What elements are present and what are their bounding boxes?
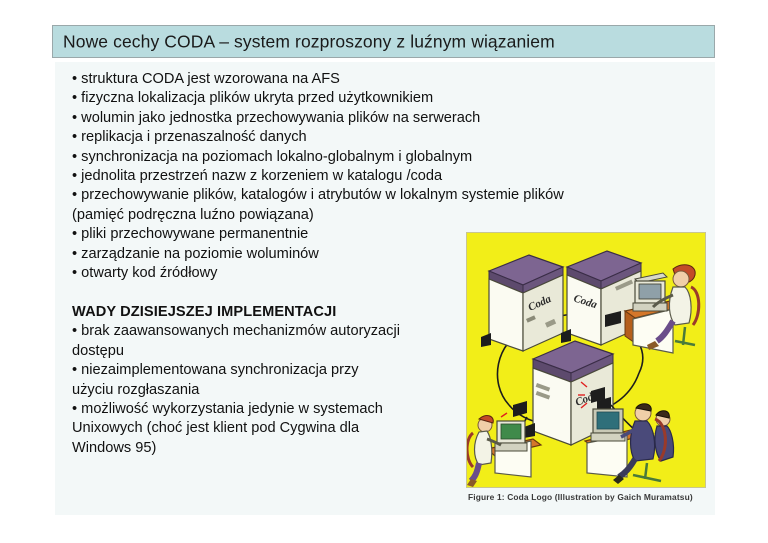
list-item: • synchronizacja na poziomach lokalno-gl…: [72, 148, 672, 167]
list-item: • struktura CODA jest wzorowana na AFS: [72, 70, 672, 89]
slide: Nowe cechy CODA – system rozproszony z l…: [0, 0, 768, 543]
list-item: • fizyczna lokalizacja plików ukryta prz…: [72, 89, 672, 108]
list-item-continuation: Windows 95): [72, 439, 462, 458]
figure-caption: Figure 1: Coda Logo (Illustration by Gai…: [468, 492, 712, 502]
list-item: • jednolita przestrzeń nazw z korzeniem …: [72, 167, 672, 186]
slide-title-box: Nowe cechy CODA – system rozproszony z l…: [52, 25, 715, 58]
bullet-list-lower: WADY DZISIEJSZEJ IMPLEMENTACJI • brak za…: [72, 303, 462, 458]
page-title: Nowe cechy CODA – system rozproszony z l…: [63, 31, 555, 52]
coda-logo-illustration: Coda Coda: [466, 232, 706, 488]
list-item-continuation: użyciu rozgłaszania: [72, 381, 462, 400]
section-heading: WADY DZISIEJSZEJ IMPLEMENTACJI: [72, 303, 462, 322]
list-item: • niezaimplementowana synchronizacja prz…: [72, 361, 462, 380]
list-item-continuation: dostępu: [72, 342, 462, 361]
list-item: • możliwość wykorzystania jedynie w syst…: [72, 400, 462, 419]
list-item: • wolumin jako jednostka przechowywania …: [72, 109, 672, 128]
list-item: • przechowywanie plików, katalogów i atr…: [72, 186, 672, 205]
list-item: • brak zaawansowanych mechanizmów autory…: [72, 322, 462, 341]
list-item: • replikacja i przenaszalność danych: [72, 128, 672, 147]
coda-server-1: Coda: [481, 255, 563, 351]
list-item-continuation: (pamięć podręczna luźno powiązana): [72, 206, 672, 225]
figure: Coda Coda: [466, 232, 706, 488]
coda-network-diagram-svg: Coda Coda: [467, 233, 705, 487]
list-item-continuation: Unixowych (choć jest klient pod Cygwina …: [72, 419, 462, 438]
